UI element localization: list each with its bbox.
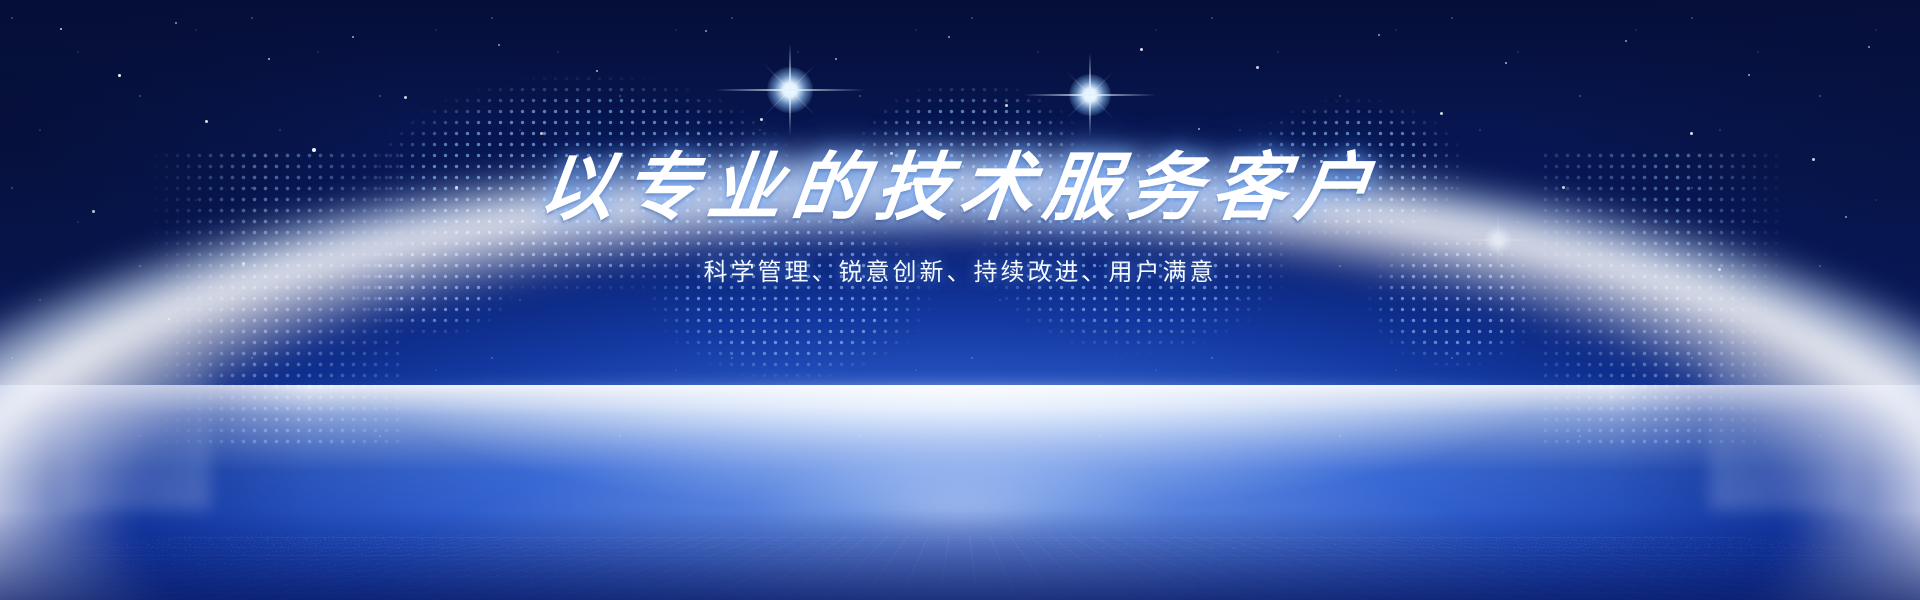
aerial-city-grid <box>0 385 1920 600</box>
sky-vignette-left <box>0 0 520 430</box>
city-building-lights <box>0 535 1920 600</box>
city-street-grid <box>0 535 1920 600</box>
city-side-vignette <box>0 385 1920 600</box>
hero-banner: 以专业的技术服务客户 科学管理、锐意创新、持续改进、用户满意 <box>0 0 1920 600</box>
center-light-beam <box>650 300 1270 530</box>
dot-column-right <box>1540 150 1790 450</box>
light-column-right <box>1710 330 1860 510</box>
sky-vignette-right <box>1400 0 1920 420</box>
banner-copy: 以专业的技术服务客户 科学管理、锐意创新、持续改进、用户满意 <box>0 0 1920 600</box>
world-map-dot-pattern <box>330 62 1610 422</box>
light-column-left <box>60 330 210 510</box>
starfield-icon <box>0 0 1920 470</box>
earth-horizon-glow <box>0 392 1920 542</box>
banner-headline: 以专业的技术服务客户 <box>535 152 1384 226</box>
banner-subtitle: 科学管理、锐意创新、持续改进、用户满意 <box>704 252 1217 287</box>
bottom-fade-overlay <box>0 510 1920 600</box>
city-atmospheric-haze <box>0 385 1920 600</box>
dot-column-left <box>150 150 400 450</box>
